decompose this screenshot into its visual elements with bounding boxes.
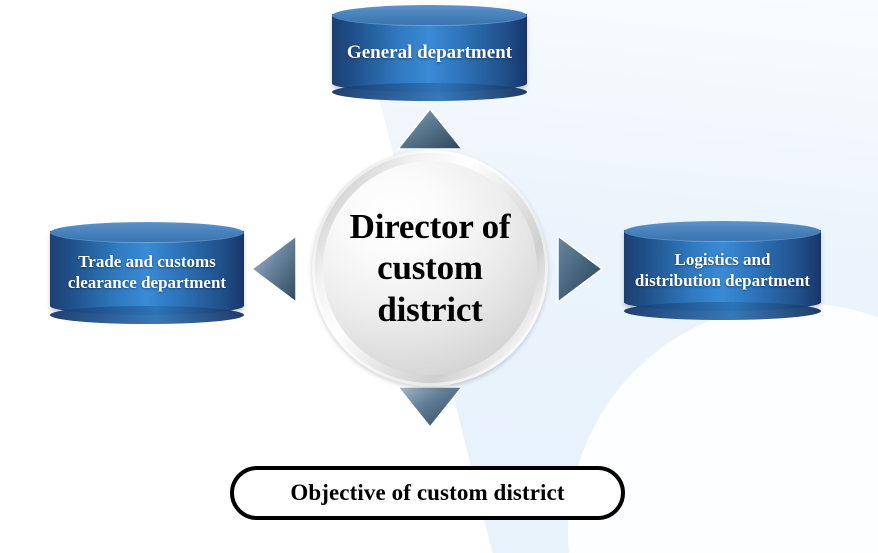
arrow-left-icon	[250, 234, 298, 304]
node-trade-customs-clearance-department[interactable]: Trade and customs clearance department	[50, 222, 244, 324]
node-general-department-label: General department	[338, 5, 521, 101]
arrow-right-icon	[556, 234, 604, 304]
arrow-down-icon	[396, 385, 464, 429]
background-white-arc	[568, 303, 878, 553]
node-objective-of-custom-district[interactable]: Objective of custom district	[230, 466, 625, 520]
diagram-canvas: General department Trade and customs cle…	[0, 0, 878, 553]
node-logistics-distribution-department-label: Logistics and distribution department	[630, 221, 815, 320]
node-trade-customs-clearance-department-label: Trade and customs clearance department	[56, 222, 238, 324]
node-objective-of-custom-district-label: Objective of custom district	[290, 480, 564, 506]
arrow-up-icon	[396, 107, 464, 151]
node-logistics-distribution-department[interactable]: Logistics and distribution department	[624, 221, 821, 320]
node-director-of-custom-district[interactable]: Director of custom district	[312, 150, 548, 386]
node-general-department[interactable]: General department	[332, 5, 527, 101]
node-director-of-custom-district-label: Director of custom district	[335, 206, 525, 330]
